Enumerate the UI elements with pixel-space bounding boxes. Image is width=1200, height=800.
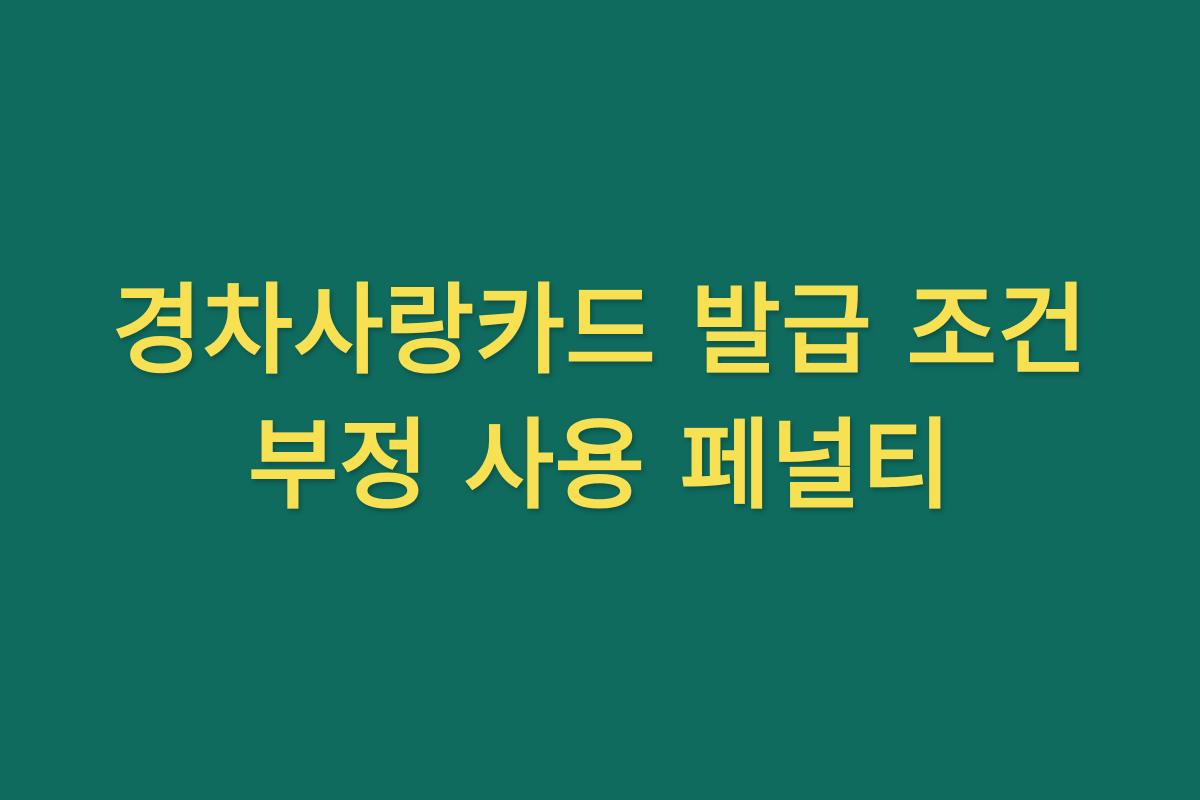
headline-line-2: 부정 사용 페널티 [40, 399, 1160, 534]
headline-block: 경차사랑카드 발급 조건 부정 사용 페널티 [0, 264, 1200, 534]
thumbnail-card: 경차사랑카드 발급 조건 부정 사용 페널티 [0, 0, 1200, 800]
headline-line-1: 경차사랑카드 발급 조건 [40, 264, 1160, 399]
